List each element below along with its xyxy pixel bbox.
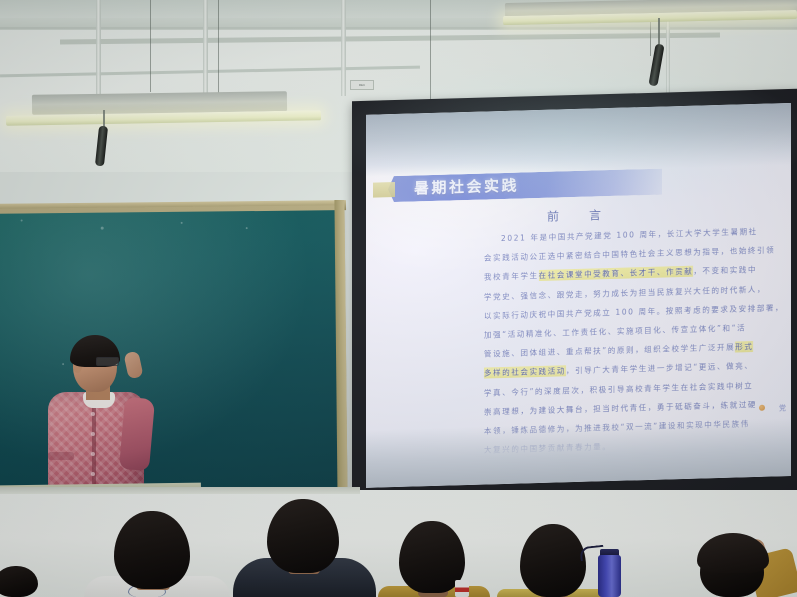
- presenter-right-arm: [119, 397, 155, 471]
- slide-bottom-shading: [366, 418, 791, 488]
- water-bottle-blue: [598, 555, 621, 597]
- presenter-sleeve: [48, 452, 74, 460]
- projection-screen-surface: 暑期社会实践 前 言 2021 年是中国共产党建党 100 周年，长江大学大学生…: [366, 103, 791, 488]
- projection-screen-frame: 暑期社会实践 前 言 2021 年是中国共产党建党 100 周年，长江大学大学生…: [352, 89, 797, 510]
- student-head: [114, 511, 190, 589]
- hanging-wire: [218, 0, 219, 96]
- wall-placard: REC: [350, 80, 374, 90]
- shirt-button: [91, 412, 95, 416]
- shirt-button: [91, 432, 95, 436]
- hanging-wire: [430, 0, 431, 100]
- slide-highlight: 形式: [735, 341, 753, 353]
- slide-highlight: 在社会课堂中受教育、长才干、作贡献: [539, 266, 694, 281]
- classroom-photo-scene: REC 暑期社会实践 前 言: [0, 0, 797, 597]
- student-head: [520, 524, 586, 597]
- hanging-wire: [150, 0, 151, 92]
- wall-ledge: [0, 487, 360, 494]
- blackboard-right-edge: [334, 200, 347, 500]
- slide-highlight: 多样的社会实践活动: [484, 366, 566, 379]
- microphone-hanging-cord[interactable]: [655, 18, 661, 48]
- shirt-button: [91, 472, 95, 476]
- conduit-pipe: [203, 0, 208, 100]
- wall-placard-label: REC: [351, 81, 373, 89]
- presentation-slide: 暑期社会实践 前 言 2021 年是中国共产党建党 100 周年，长江大学大学生…: [366, 103, 791, 488]
- glasses-icon: [96, 357, 119, 366]
- screen-pull-cord[interactable]: [100, 110, 106, 140]
- conduit-pipe: [341, 0, 346, 96]
- shirt-button: [91, 452, 95, 456]
- slide-footer-note: 党: [779, 403, 787, 413]
- desk-item-red: [455, 580, 469, 597]
- slide-top-shading: [366, 103, 791, 177]
- slide-bullet-dot-icon: [759, 405, 765, 411]
- student-head: [267, 499, 339, 573]
- slide-title-accent-tag: [373, 182, 395, 198]
